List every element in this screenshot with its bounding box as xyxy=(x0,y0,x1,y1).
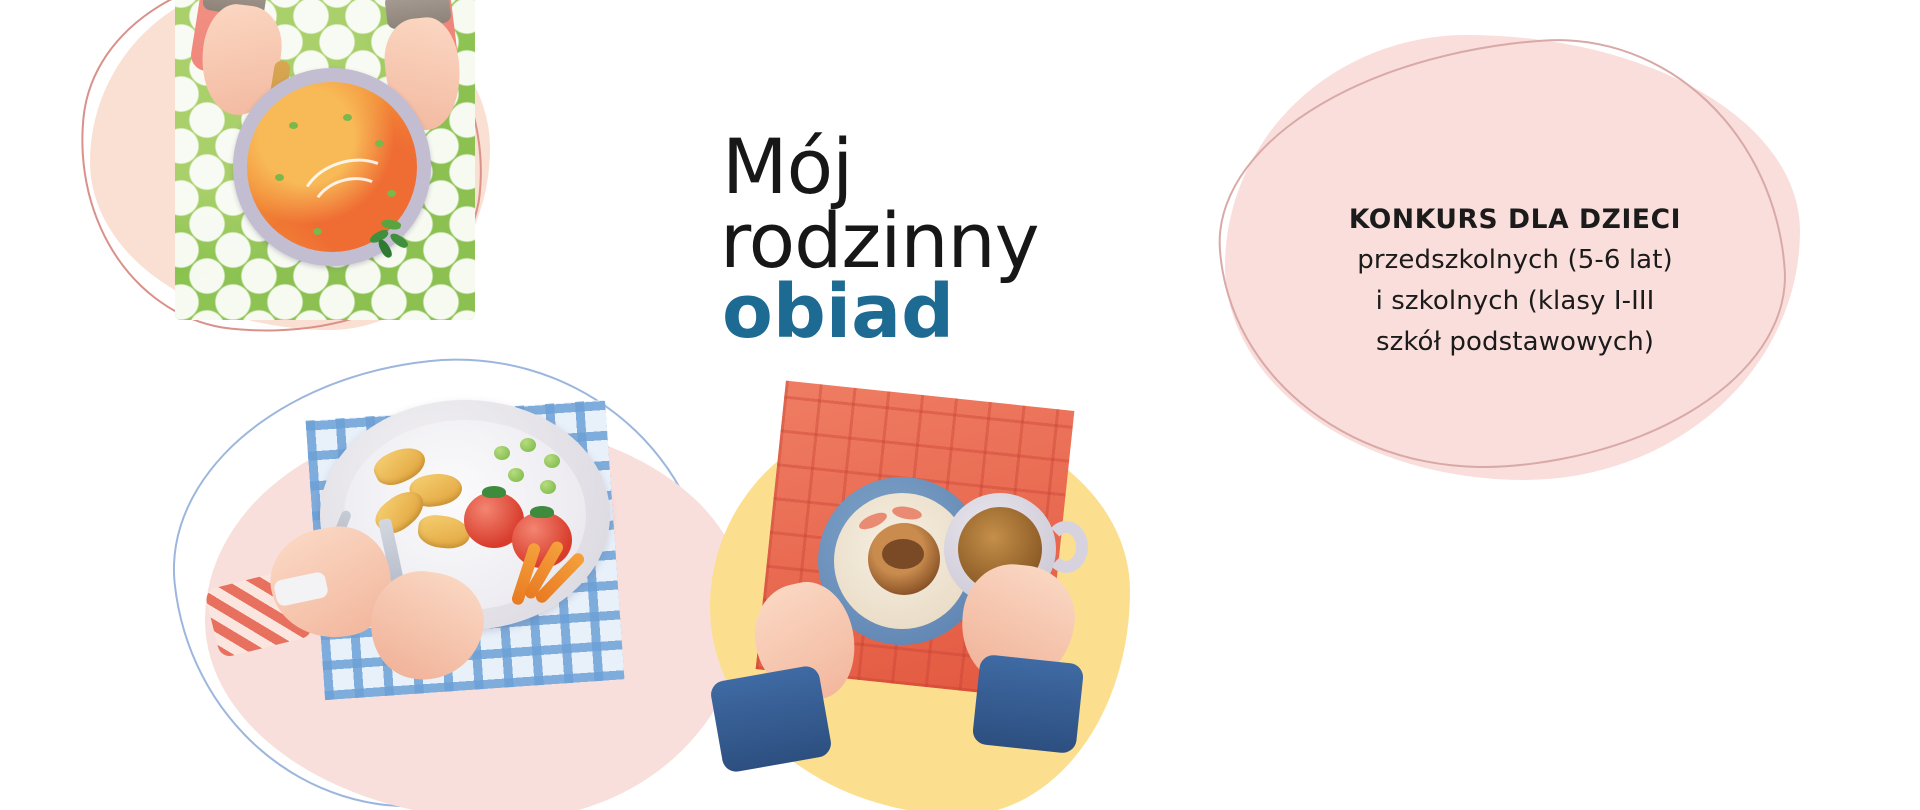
dessert-coffee-illustration xyxy=(700,415,1160,810)
right-blue-sleeve xyxy=(972,654,1085,754)
green-pea xyxy=(494,446,510,460)
green-pea xyxy=(544,454,560,468)
herb-speck xyxy=(343,114,352,121)
fruit-slice xyxy=(891,504,923,521)
herb-speck xyxy=(275,174,284,181)
callout-line-3: szkół podstawowych) xyxy=(1285,322,1745,363)
callout-heading: KONKURS DLA DZIECI xyxy=(1285,200,1745,240)
callout-text: KONKURS DLA DZIECI przedszkolnych (5-6 l… xyxy=(1285,200,1745,363)
soup-bowl xyxy=(233,68,431,266)
soup-surface xyxy=(247,82,417,252)
green-pea xyxy=(508,468,524,482)
left-blue-sleeve xyxy=(709,664,833,774)
herb-speck xyxy=(387,190,396,197)
herb-speck xyxy=(375,140,384,147)
dinner-plate-illustration xyxy=(175,400,755,810)
callout-line-2: i szkolnych (klasy I-III xyxy=(1285,281,1745,322)
herb-speck xyxy=(313,228,322,235)
cake-slice xyxy=(868,523,940,595)
soup-bowl-illustration xyxy=(80,0,500,350)
title-line-1: Mój xyxy=(710,130,1130,204)
parsley-garnish xyxy=(369,218,415,258)
callout-badge: KONKURS DLA DZIECI przedszkolnych (5-6 l… xyxy=(1225,35,1800,480)
poster-canvas: Mój rodzinny obiad KONKURS DLA DZIECI pr… xyxy=(0,0,1920,810)
green-pea xyxy=(520,438,536,452)
title-line-2: rodzinny xyxy=(710,204,1130,278)
herb-speck xyxy=(289,122,298,129)
green-pea xyxy=(540,480,556,494)
page-title: Mój rodzinny obiad xyxy=(710,130,1130,349)
callout-line-1: przedszkolnych (5-6 lat) xyxy=(1285,240,1745,281)
title-line-3-accent: obiad xyxy=(710,277,1130,349)
